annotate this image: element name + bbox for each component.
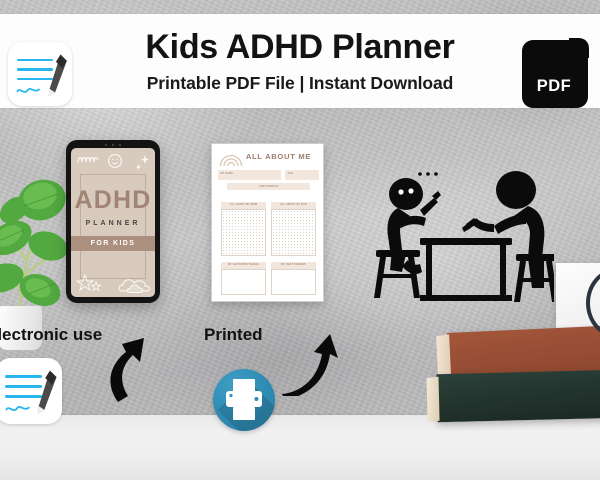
stick-figures-at-desk (368, 166, 554, 306)
box-area-favourites (221, 269, 266, 295)
page-subtitle: Printable PDF File | Instant Download (145, 75, 454, 93)
tablet-device: ADHD PLANNER FOR KIDS (66, 140, 160, 303)
smiley-doodle (107, 153, 123, 169)
notepad-squiggle (5, 404, 31, 413)
printed-planner-page: ALL ABOUT ME MY NAME AGE I WAS BORN IN A… (211, 143, 324, 302)
page-title: ALL ABOUT ME (244, 153, 313, 161)
book-pages (427, 377, 440, 422)
field-age: AGE (285, 170, 319, 180)
dark-green-book (436, 370, 600, 423)
box-header-favourites: MY FAVOURITE THINGS (221, 262, 266, 269)
curved-arrow-up-right-icon (274, 310, 340, 396)
header-banner: Kids ADHD Planner Printable PDF File | I… (0, 14, 600, 108)
book-pages (436, 334, 451, 377)
box-header-dad: ALL ABOUT MY DAD (271, 202, 316, 209)
star-doodle (76, 273, 104, 293)
box-area-mom (221, 209, 266, 256)
product-mockup-image: ADHD PLANNER FOR KIDS (0, 0, 600, 480)
notepad-squiggle (16, 86, 42, 95)
sparkle-doodle (134, 154, 150, 174)
cover-subheading: PLANNER (71, 220, 155, 227)
cover-band: FOR KIDS (71, 236, 155, 251)
printer-icon (213, 369, 275, 431)
desk-surface (0, 415, 600, 480)
tablet-screen: ADHD PLANNER FOR KIDS (71, 148, 155, 297)
rainbow-doodle (219, 151, 243, 166)
page-title: Kids ADHD Planner (145, 30, 454, 64)
printed-label: Printed (204, 325, 263, 345)
pdf-badge-label: PDF (522, 77, 586, 96)
tablet-camera-dots (104, 144, 122, 146)
cover-band-label: FOR KIDS (91, 240, 136, 247)
cloud-doodle (118, 275, 152, 295)
field-my-name: MY NAME (218, 170, 281, 180)
cover-heading: ADHD (71, 188, 155, 213)
squiggle-doodle (76, 154, 100, 166)
field-born-in: I WAS BORN IN (227, 183, 310, 190)
potted-plant (0, 150, 70, 350)
header-text-block: Kids ADHD Planner Printable PDF File | I… (145, 30, 454, 93)
box-header-mom: ALL ABOUT MY MOM (221, 202, 266, 209)
pen-icon (46, 51, 68, 100)
box-header-friends: MY BEST FRIENDS (271, 262, 316, 269)
curved-arrow-up-left-icon (100, 322, 168, 404)
electronic-use-label: Electronic use (0, 325, 102, 345)
pen-icon (35, 367, 57, 417)
notepad-pen-icon (8, 42, 72, 106)
pdf-file-icon: PDF (522, 40, 588, 108)
box-area-dad (271, 209, 316, 256)
notepad-pen-icon (0, 358, 62, 424)
box-area-friends (271, 269, 316, 295)
